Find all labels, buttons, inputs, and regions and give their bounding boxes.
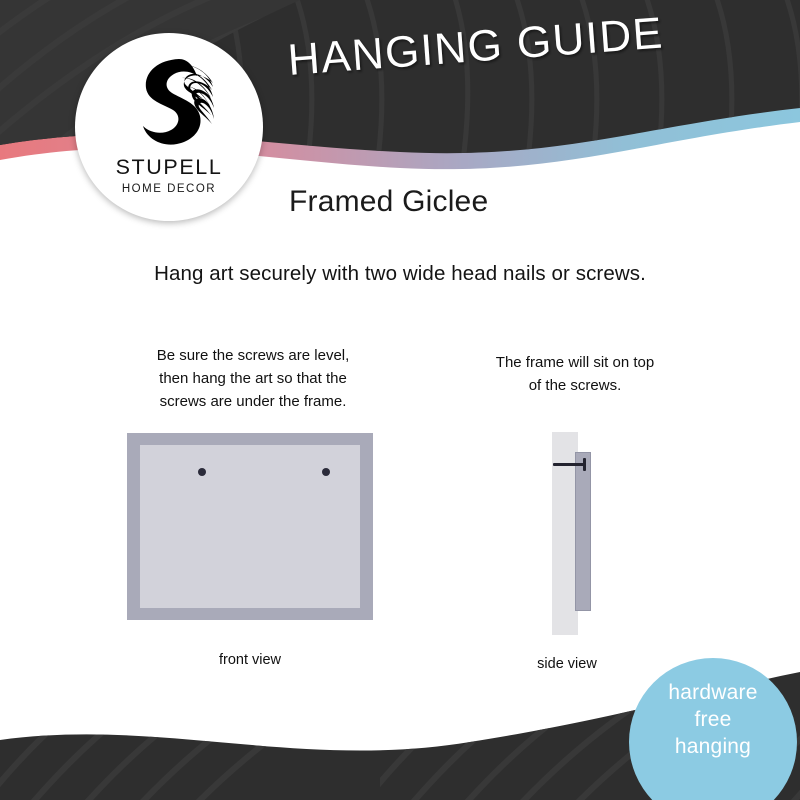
- screw-dot-left-icon: [198, 468, 206, 476]
- screw-dot-right-icon: [322, 468, 330, 476]
- lede-text: Hang art securely with two wide head nai…: [0, 262, 800, 286]
- badge-line-1: hardware: [668, 680, 757, 707]
- side-view-instruction: The frame will sit on top of the screws.: [455, 352, 695, 398]
- stupell-swoosh-logo-icon: [117, 53, 221, 153]
- brand-name: STUPELL: [116, 155, 223, 180]
- picture-frame-side: [575, 452, 591, 611]
- brand-tagline: HOME DECOR: [122, 183, 216, 195]
- hardware-free-hanging-badge: hardware free hanging: [629, 658, 797, 800]
- front-view-diagram: [127, 433, 373, 620]
- brand-logo-badge: STUPELL HOME DECOR: [75, 33, 263, 221]
- product-name: Framed Giclee: [289, 185, 488, 219]
- badge-line-3: hanging: [675, 734, 751, 761]
- page-title: HANGING GUIDE: [286, 8, 665, 85]
- front-view-instruction: Be sure the screws are level, then hang …: [110, 345, 396, 413]
- front-view-label: front view: [127, 652, 373, 668]
- screw-shaft-icon: [553, 463, 585, 466]
- frame-mat: [140, 445, 360, 608]
- picture-frame-front: [127, 433, 373, 620]
- hanging-guide-page: STUPELL HOME DECOR HANGING GUIDE Framed …: [0, 0, 800, 800]
- side-view-label: side view: [492, 656, 642, 672]
- badge-line-2: free: [695, 707, 732, 734]
- screw-head-icon: [583, 458, 586, 471]
